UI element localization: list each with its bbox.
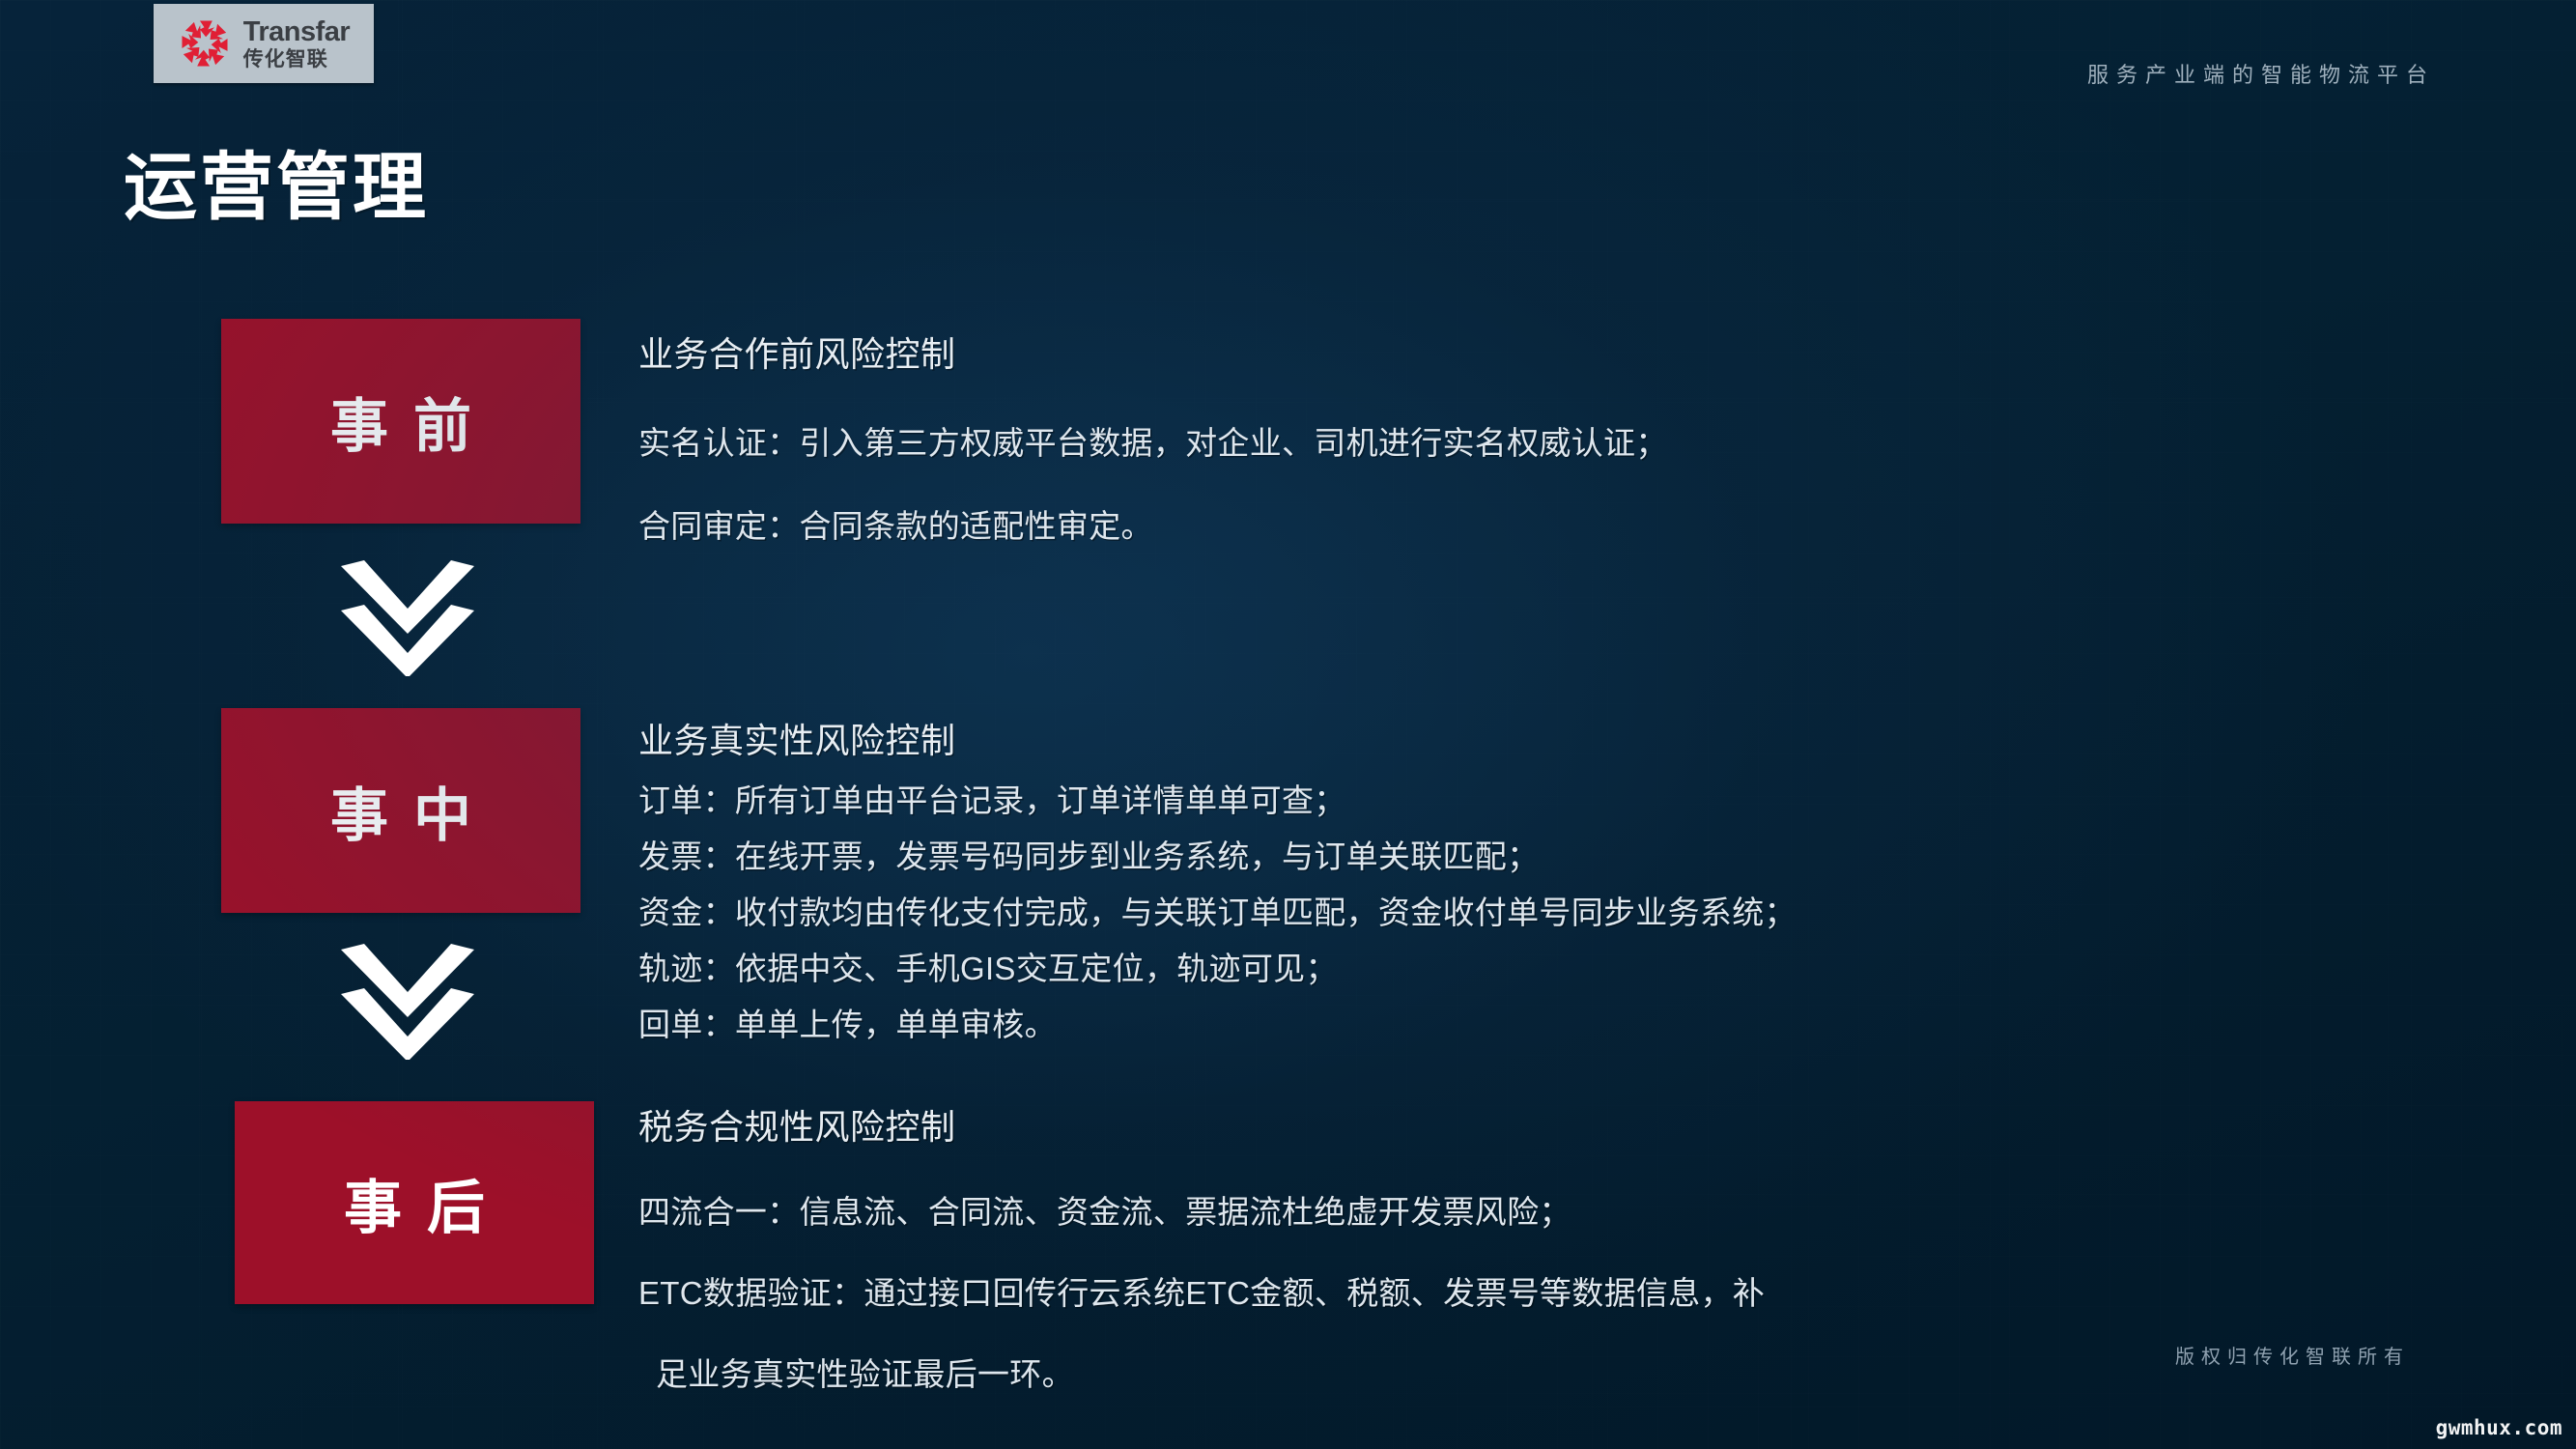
brand-logo-wordmark: Transfar 传化智联 (243, 18, 350, 70)
stage-line: 发票：在线开票，发票号码同步到业务系统，与订单关联匹配； (638, 831, 1797, 877)
copyright-notice: 版权归传化智联所有 (2175, 1341, 2410, 1369)
brand-logo-latin: Transfar (243, 18, 350, 46)
brand-tagline: 服务产业端的智能物流平台 (2087, 58, 2435, 89)
stage-line: 足业务真实性验证最后一环。 (638, 1349, 1765, 1395)
stage-content-during: 业务真实性风险控制 订单：所有订单由平台记录，订单详情单单可查； 发票：在线开票… (638, 713, 1797, 1055)
stage-badge-during: 事中 (221, 708, 580, 913)
stage-content-before: 业务合作前风险控制 实名认证：引入第三方权威平台数据，对企业、司机进行实名权威认… (638, 327, 1668, 583)
stage-line: 订单：所有订单由平台记录，订单详情单单可查； (638, 775, 1797, 821)
double-chevron-down-icon (335, 942, 480, 1060)
stage-line: 四流合一：信息流、合同流、资金流、票据流杜绝虚开发票风险； (638, 1186, 1765, 1233)
stage-line: 回单：单单上传，单单审核。 (638, 999, 1797, 1045)
stage-heading: 业务真实性风险控制 (638, 713, 1797, 763)
stage-line: 轨迹：依据中交、手机GIS交互定位，轨迹可见； (638, 943, 1797, 989)
stage-line: 实名认证：引入第三方权威平台数据，对企业、司机进行实名权威认证； (638, 417, 1668, 464)
site-watermark: gwmhux.com (2436, 1416, 2562, 1439)
stage-line: 资金：收付款均由传化支付完成，与关联订单匹配，资金收付单号同步业务系统； (638, 887, 1797, 933)
brand-logo-chinese: 传化智联 (243, 49, 350, 70)
page-title: 运营管理 (124, 147, 429, 229)
stage-badge-before: 事前 (221, 319, 580, 524)
stage-badge-after: 事后 (235, 1101, 594, 1304)
stage-line: ETC数据验证：通过接口回传行云系统ETC金额、税额、发票号等数据信息，补 (638, 1267, 1765, 1314)
stage-content-after: 税务合规性风险控制 四流合一：信息流、合同流、资金流、票据流杜绝虚开发票风险； … (638, 1099, 1765, 1430)
double-chevron-down-icon (335, 558, 480, 676)
brand-logo: Transfar 传化智联 (154, 4, 374, 83)
stage-line: 合同审定：合同条款的适配性审定。 (638, 500, 1668, 547)
stage-heading: 业务合作前风险控制 (638, 327, 1668, 377)
slide-canvas: Transfar 传化智联 服务产业端的智能物流平台 运营管理 事前 业务合作前… (0, 0, 2576, 1449)
transfar-pinwheel-logo-icon (178, 16, 232, 71)
stage-heading: 税务合规性风险控制 (638, 1099, 1765, 1150)
